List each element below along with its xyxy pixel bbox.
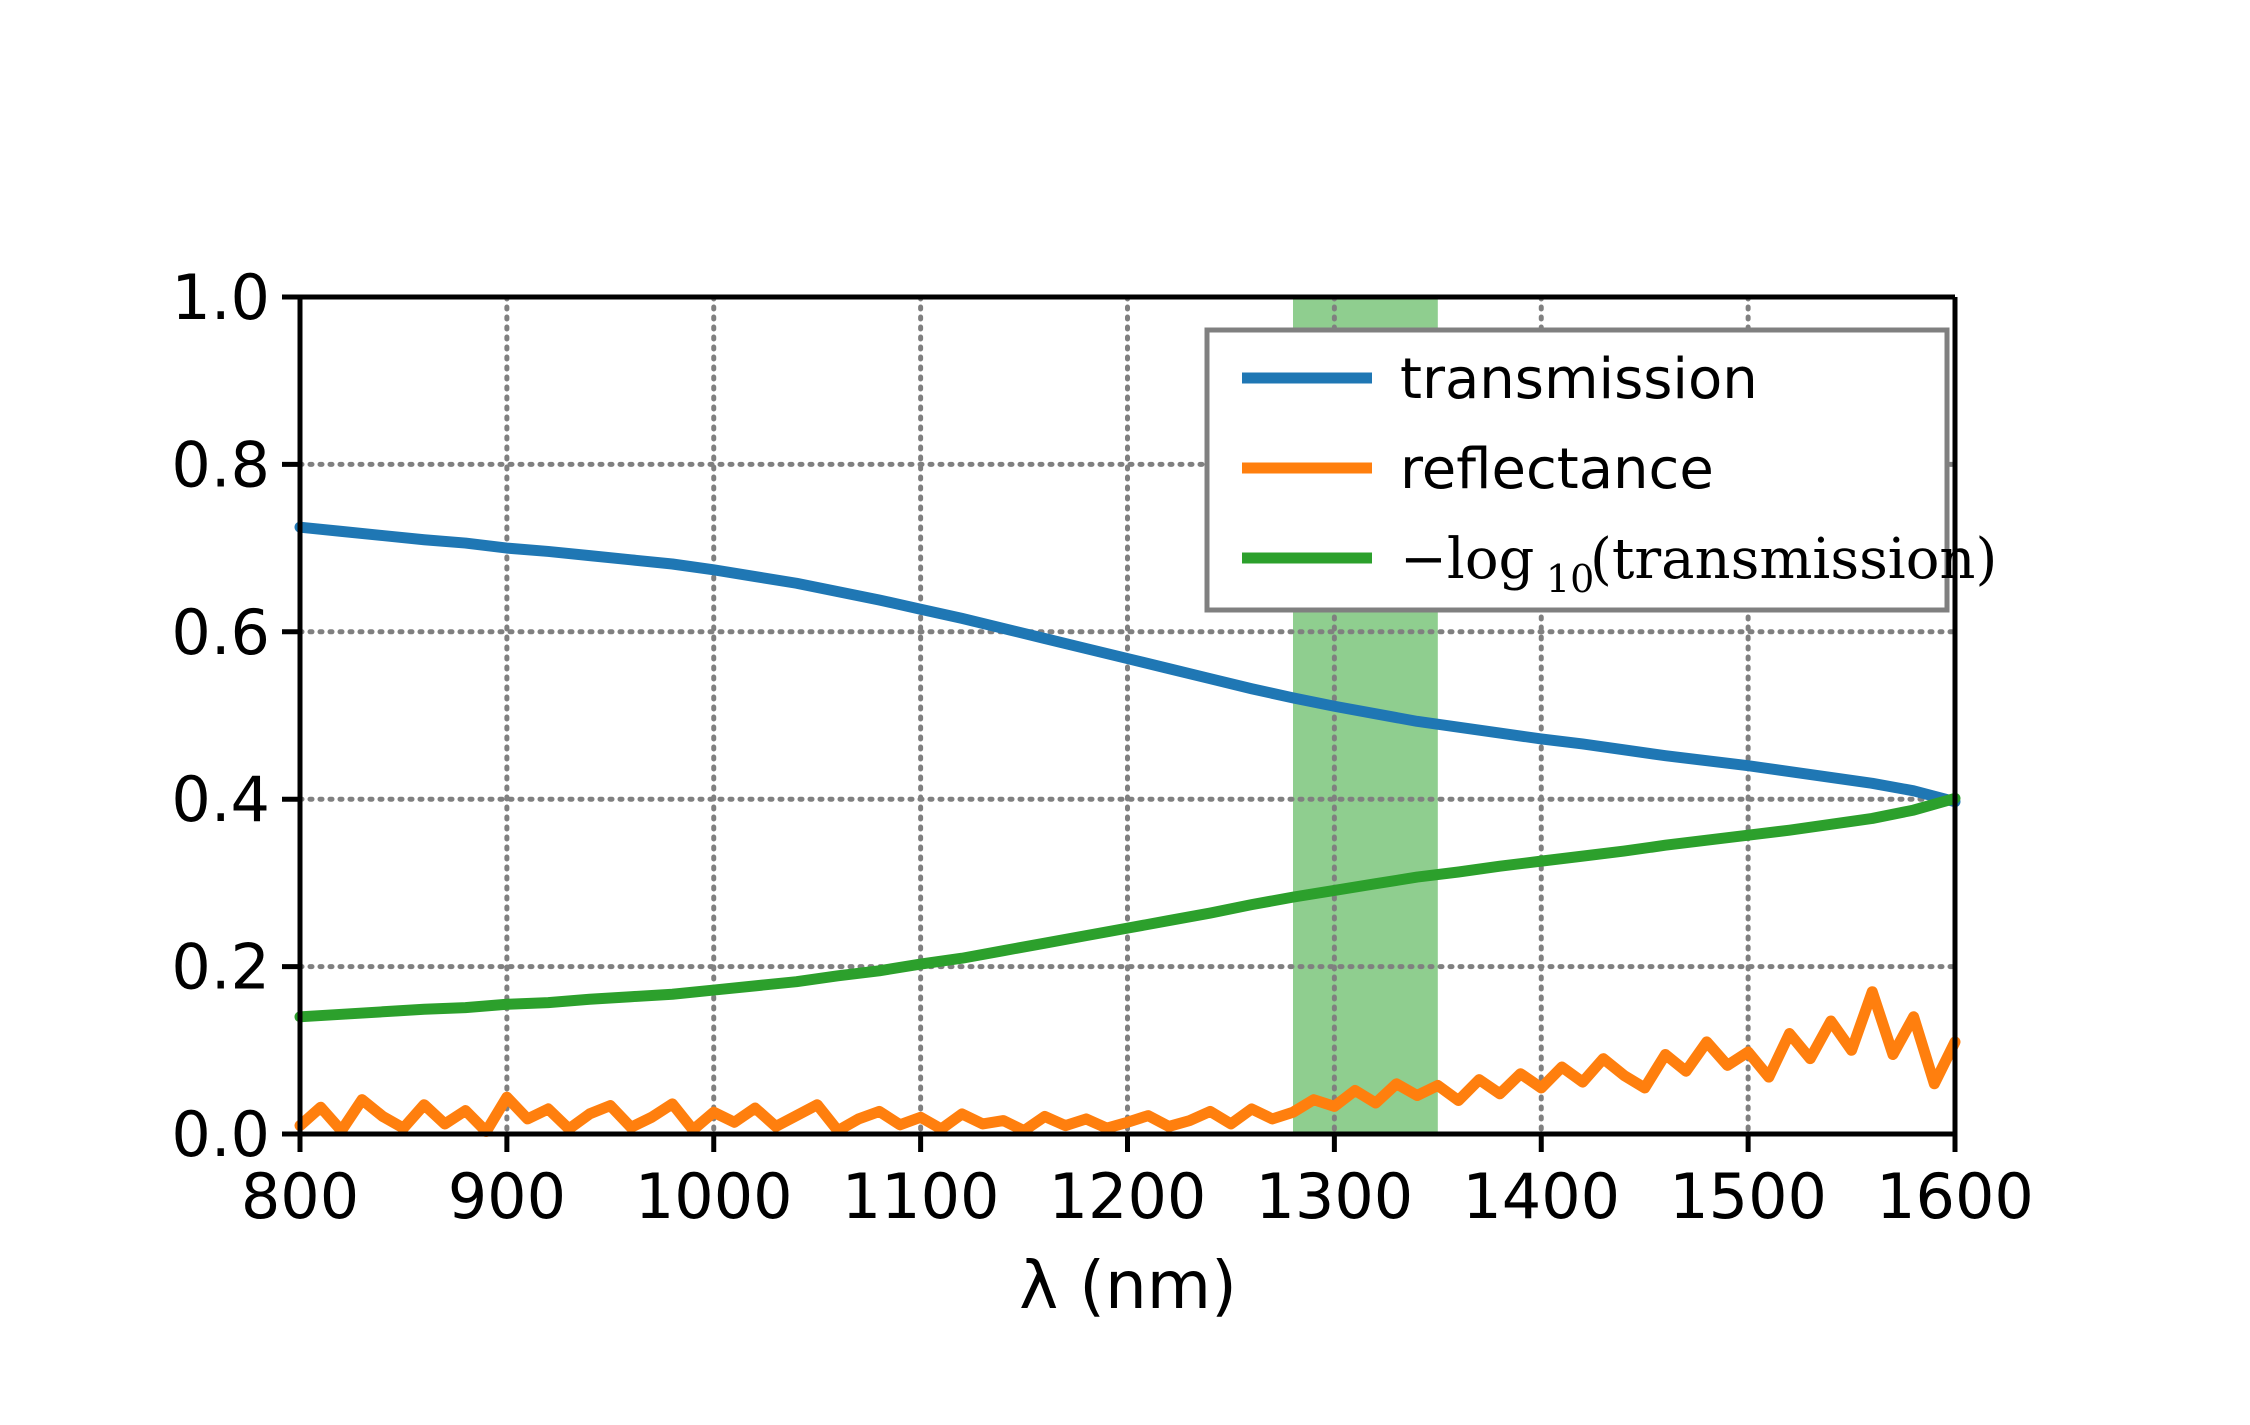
x-tick-label: 1600 — [1876, 1160, 2034, 1233]
x-tick-label: 1100 — [842, 1160, 1000, 1233]
y-tick-label: 0.2 — [171, 931, 270, 1004]
y-tick-label: 0.8 — [171, 428, 270, 501]
x-tick-label: 1200 — [1049, 1160, 1207, 1233]
y-tick-label: 0.0 — [171, 1098, 270, 1171]
legend-label-transmission: transmission — [1400, 347, 1758, 412]
figure-canvas: 8009001000110012001300140015001600 0.00.… — [0, 0, 2250, 1425]
spectrum-plot: 8009001000110012001300140015001600 0.00.… — [0, 0, 2250, 1425]
legend-label-neglog-suffix: (transmission) — [1590, 527, 1997, 592]
legend-label-neglog-subscript: 10 — [1546, 557, 1594, 601]
x-tick-label: 900 — [448, 1160, 566, 1233]
x-tick-label: 1500 — [1669, 1160, 1827, 1233]
x-axis-label: λ (nm) — [1019, 1247, 1237, 1324]
y-tick-label: 0.6 — [171, 596, 270, 669]
chart-legend[interactable]: transmission reflectance −log 10 (transm… — [1207, 330, 1997, 610]
x-tick-label: 1400 — [1462, 1160, 1620, 1233]
x-tick-label: 1000 — [635, 1160, 793, 1233]
legend-label-neglog-prefix: −log — [1400, 527, 1534, 592]
x-tick-label: 1300 — [1255, 1160, 1413, 1233]
y-tick-label: 0.4 — [171, 763, 270, 836]
legend-label-neg-log-transmission: −log 10 (transmission) — [1400, 527, 1997, 601]
y-tick-label: 1.0 — [171, 261, 270, 334]
legend-label-reflectance: reflectance — [1400, 437, 1714, 502]
